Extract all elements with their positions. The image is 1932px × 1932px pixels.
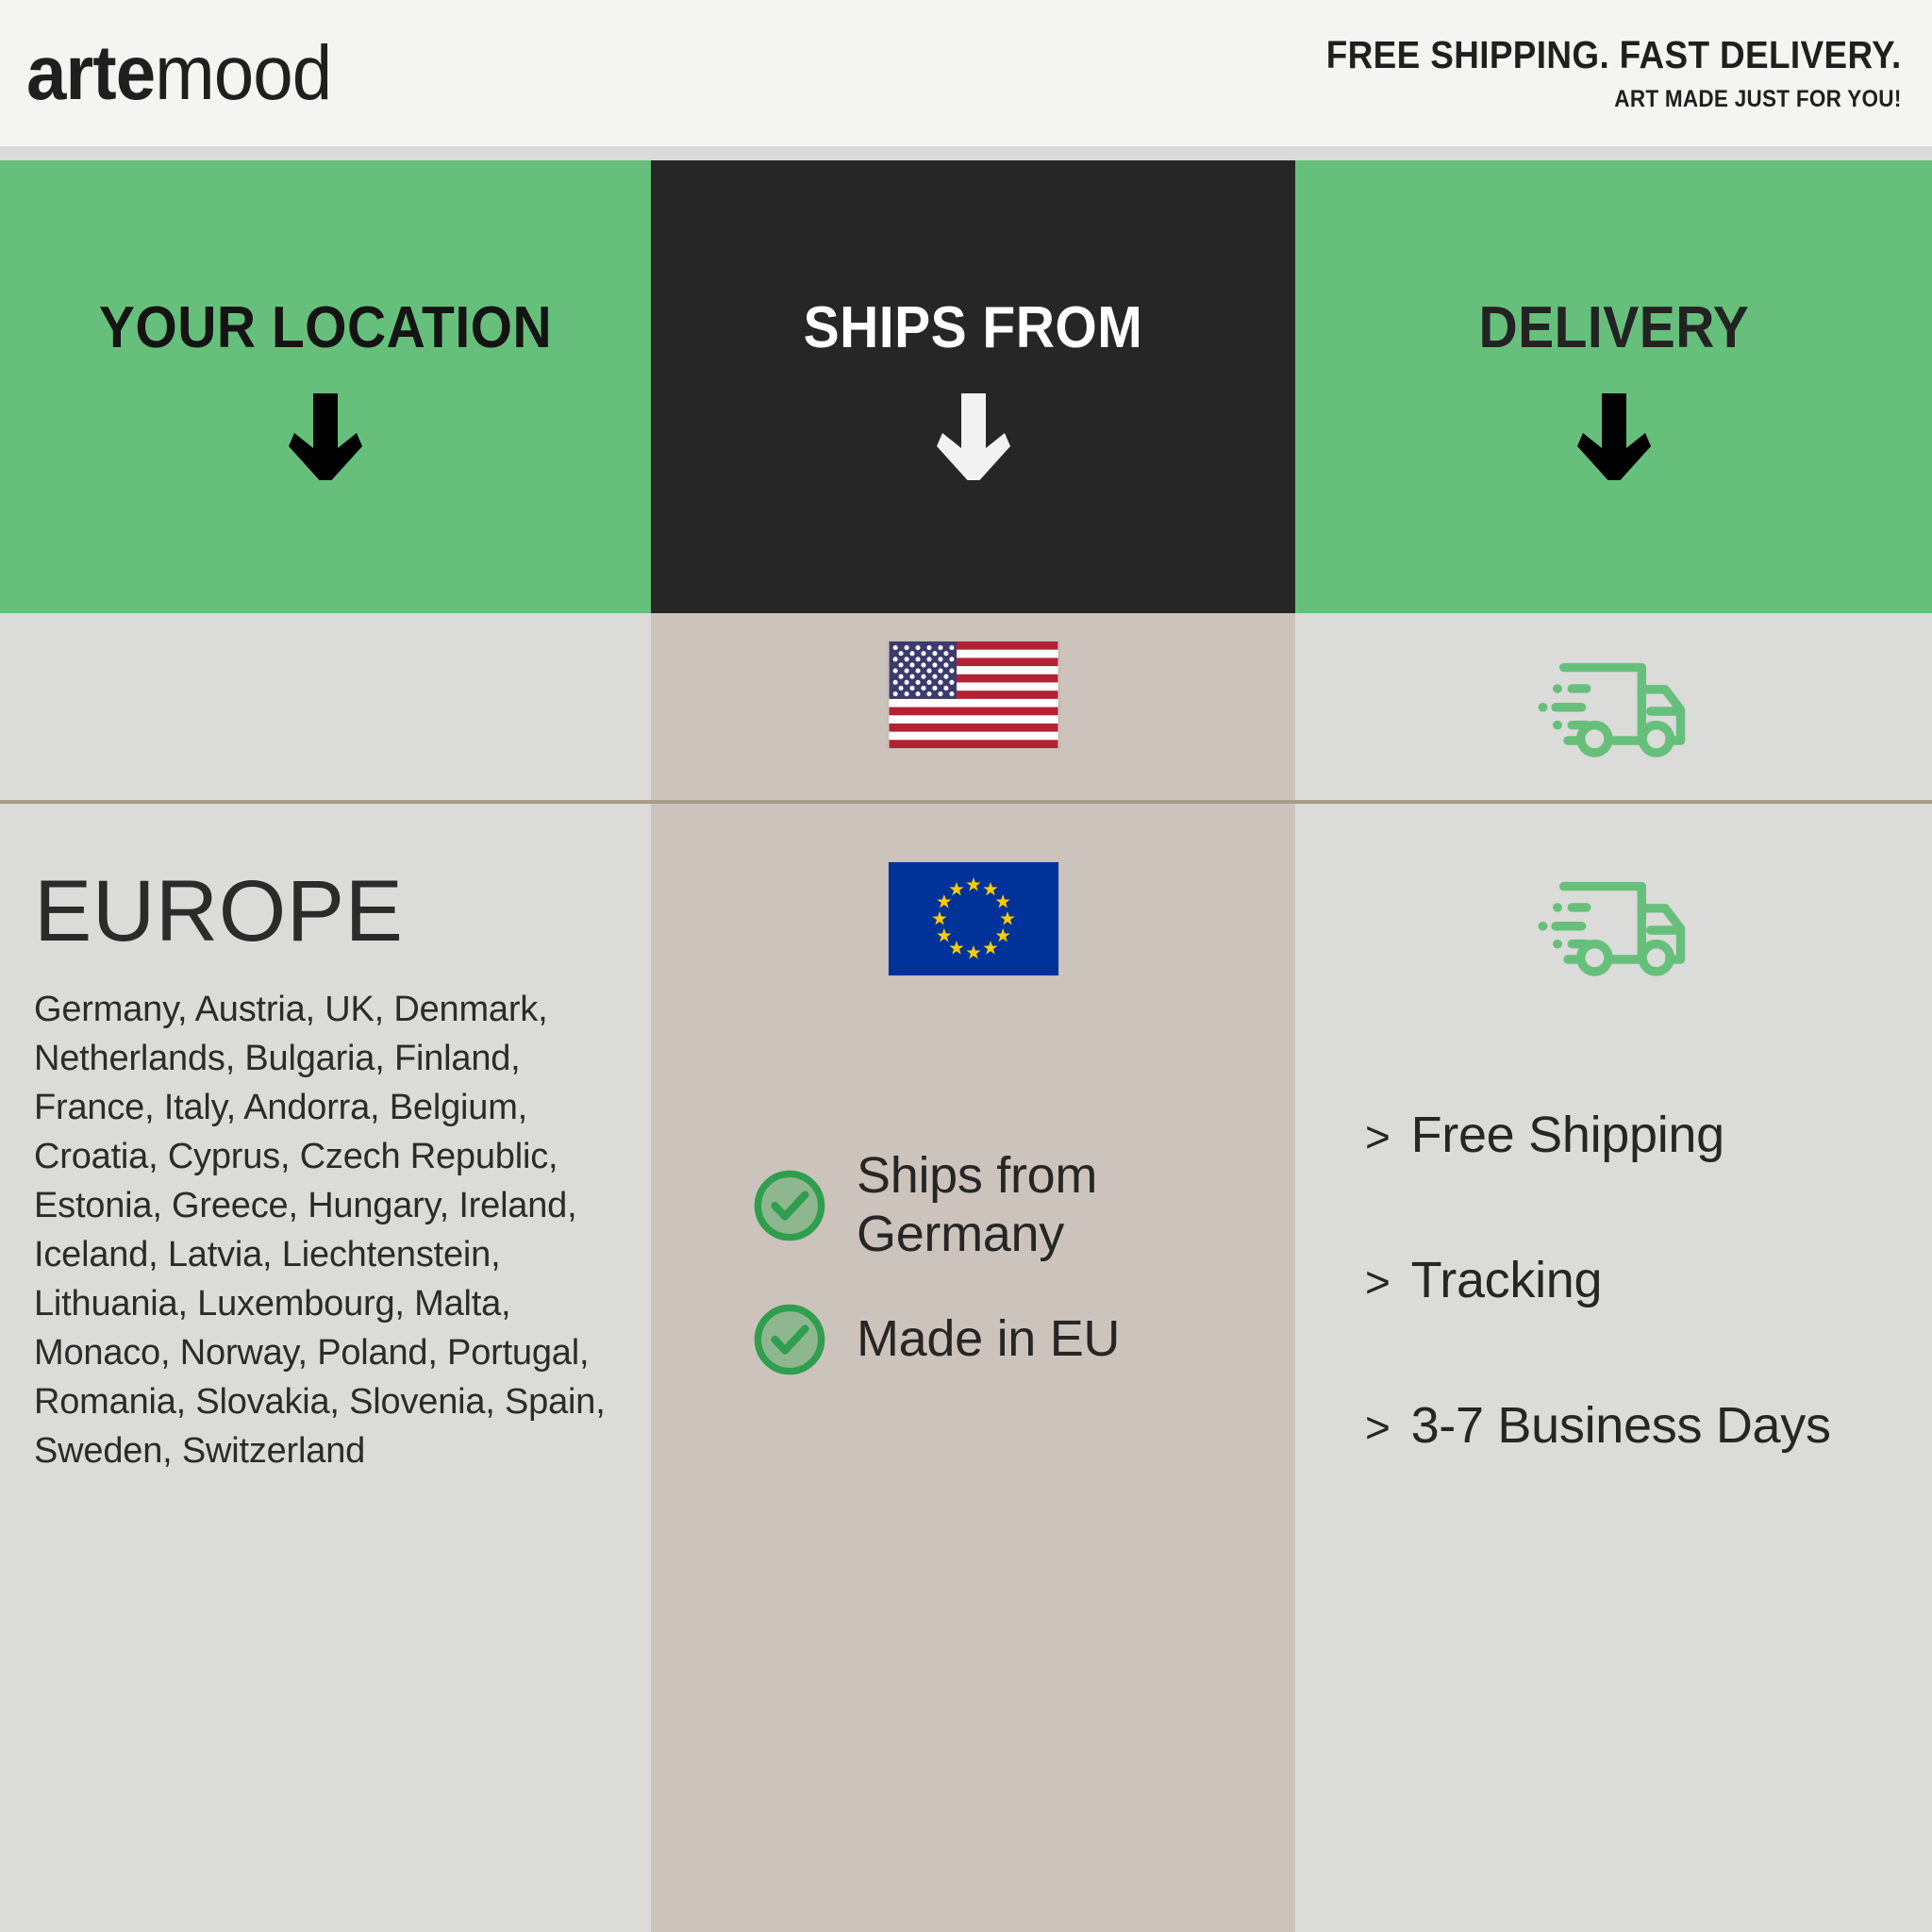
check-circle-icon — [751, 1301, 828, 1378]
location-title: EUROPE — [34, 862, 651, 962]
list-item: > Free Shipping — [1365, 1109, 1932, 1160]
shipping-table: YOUR LOCATION SHIPS FROM DELIVERY USA CA… — [0, 160, 1932, 1932]
column-header-ships-from-label: SHIPS FROM — [804, 294, 1143, 361]
delivery-truck-icon — [1533, 653, 1695, 758]
table-row: EUROPE Germany, Austria, UK, Denmark, Ne… — [0, 804, 651, 1932]
column-header-delivery-label: DELIVERY — [1478, 294, 1749, 361]
arrow-down-icon — [289, 393, 362, 480]
location-line: EUROPE — [34, 862, 651, 962]
list-item: > 3-7 Business Days — [1365, 1400, 1932, 1451]
logo-bold-part: arte — [26, 30, 155, 116]
country-list: Germany, Austria, UK, Denmark, Netherlan… — [34, 985, 619, 1475]
check-circle-icon — [751, 1167, 828, 1244]
chevron-right-icon: > — [1365, 1406, 1391, 1449]
tagline-sub: ART MADE JUST FOR YOU! — [1326, 86, 1902, 113]
brand-header: artemood FREE SHIPPING. FAST DELIVERY. A… — [0, 0, 1932, 146]
list-item: Ships from Germany — [751, 1147, 1295, 1263]
tagline-main: FREE SHIPPING. FAST DELIVERY. — [1326, 33, 1902, 77]
header-divider-strip — [0, 146, 1932, 160]
logo-light-part: mood — [155, 30, 331, 116]
artemood-logo[interactable]: artemood — [26, 37, 331, 110]
ships-from-label: Ships from Germany — [857, 1147, 1097, 1263]
column-header-location-label: YOUR LOCATION — [99, 294, 552, 361]
delivery-cell-europe: > Free Shipping > Tracking > 3-7 Busines… — [1295, 804, 1932, 1932]
list-item: > Tracking — [1365, 1255, 1932, 1306]
chevron-right-icon: > — [1365, 1115, 1391, 1158]
column-header-ships-from: SHIPS FROM — [651, 160, 1295, 613]
us-flag-icon — [888, 641, 1059, 748]
made-in-label: Made in EU — [857, 1310, 1120, 1369]
header-tagline-group: FREE SHIPPING. FAST DELIVERY. ART MADE J… — [1262, 33, 1907, 113]
list-item: Made in EU — [751, 1301, 1295, 1378]
delivery-label: Tracking — [1411, 1255, 1603, 1306]
arrow-down-icon — [937, 393, 1010, 480]
eu-flag-icon — [889, 862, 1058, 975]
delivery-truck-icon — [1533, 872, 1695, 977]
column-header-your-location: YOUR LOCATION — [0, 160, 651, 613]
delivery-label: Free Shipping — [1411, 1109, 1724, 1160]
column-header-delivery: DELIVERY — [1295, 160, 1932, 613]
arrow-down-icon — [1577, 393, 1651, 480]
ships-from-cell-europe: Ships from Germany Made in EU — [651, 804, 1295, 1932]
chevron-right-icon: > — [1365, 1260, 1391, 1304]
delivery-label: 3-7 Business Days — [1411, 1400, 1831, 1451]
